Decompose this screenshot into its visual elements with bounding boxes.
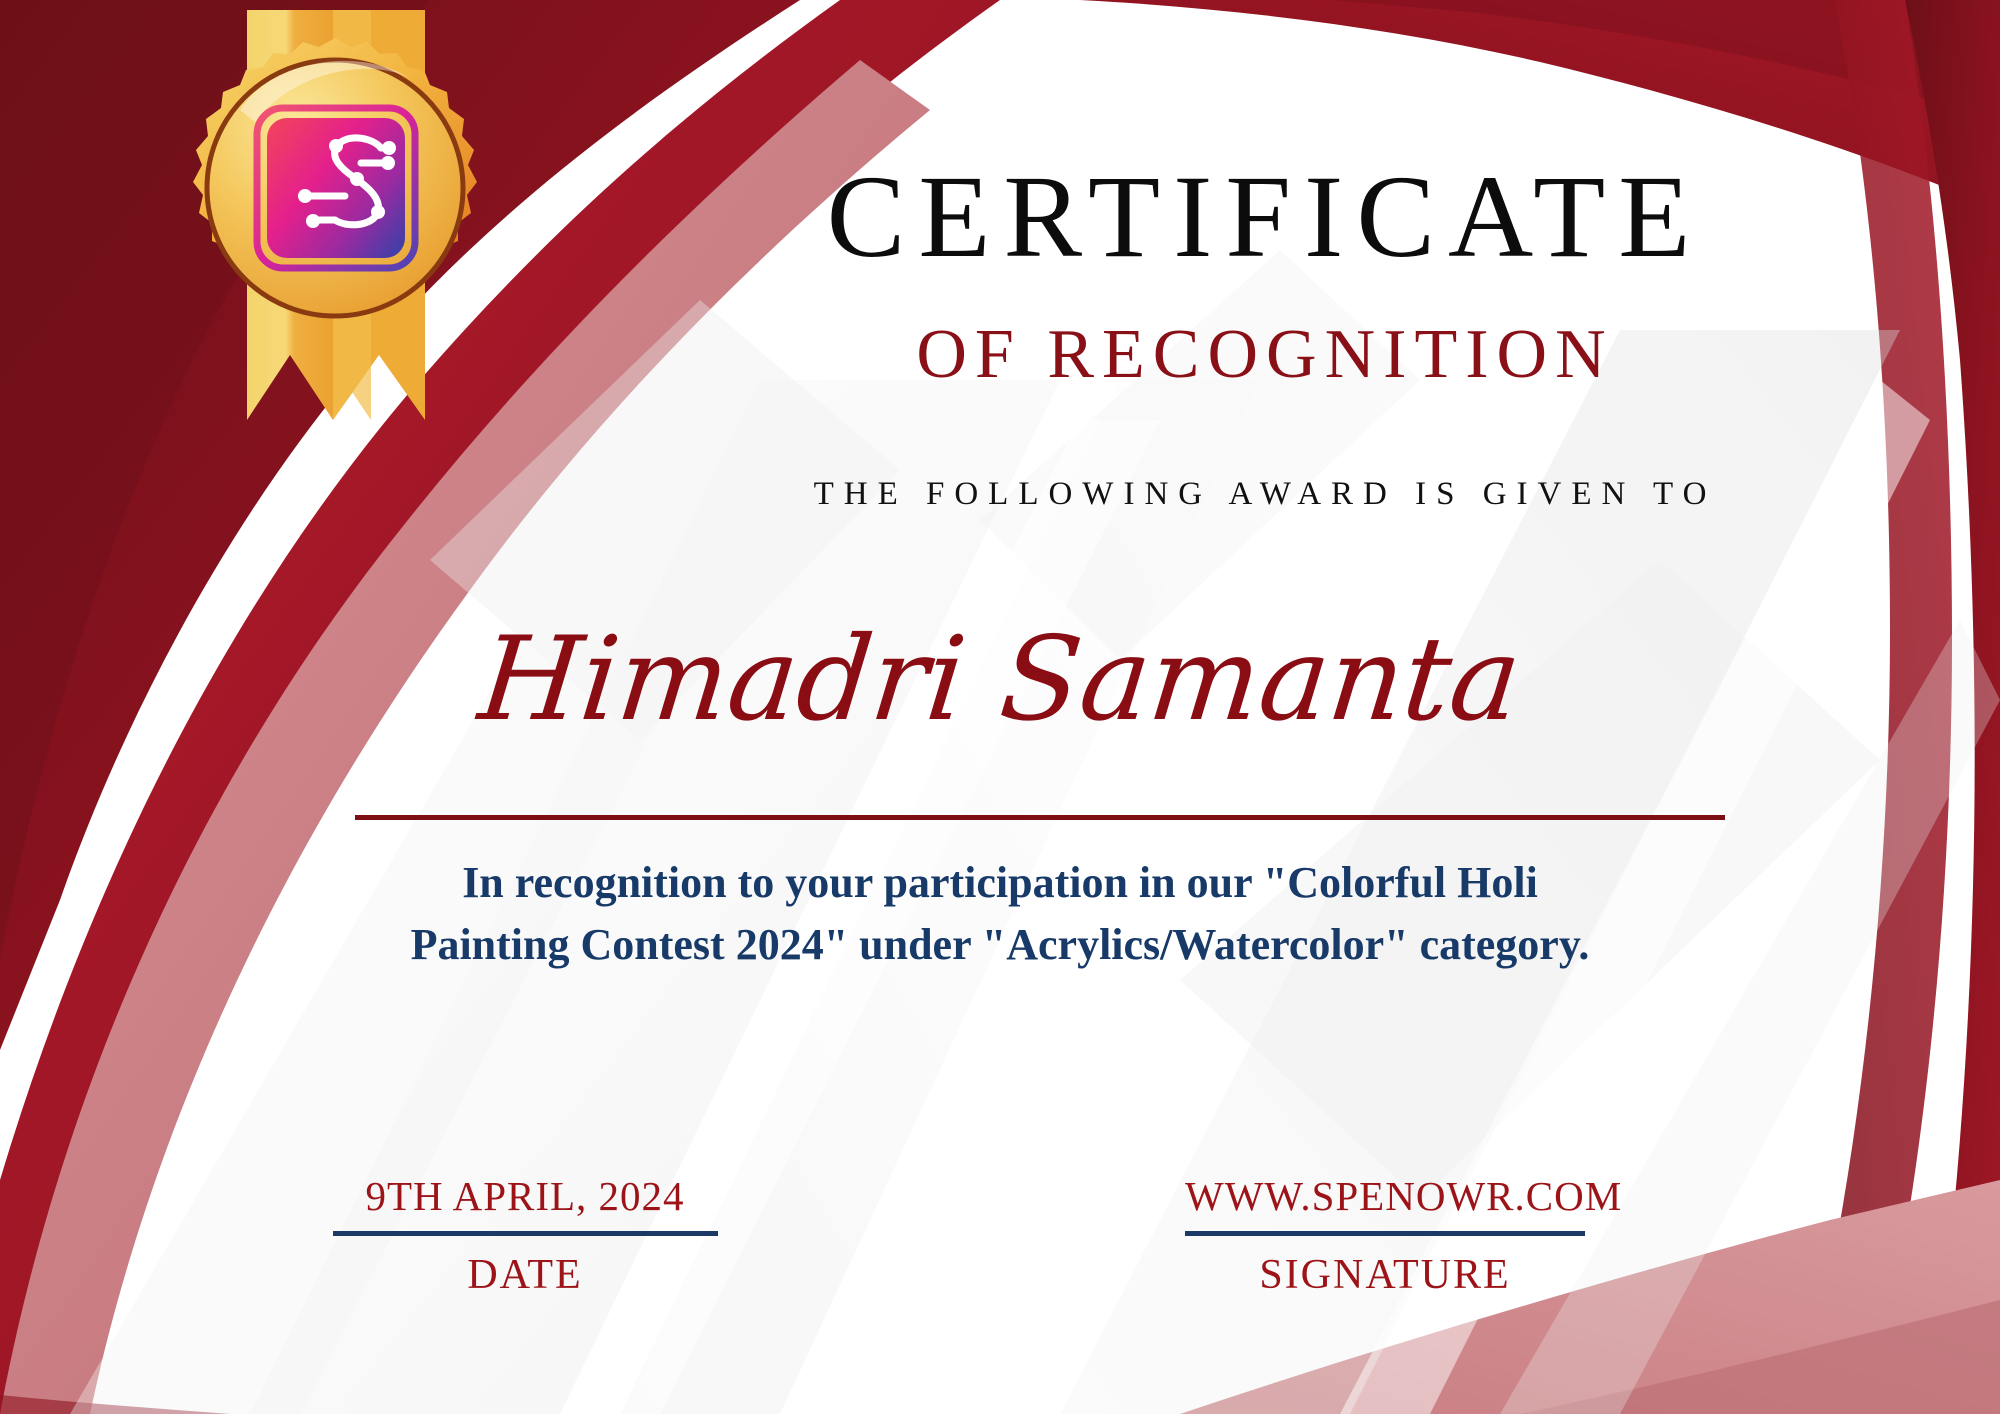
certificate-subtitle: OF RECOGNITION	[640, 320, 1890, 390]
certificate-page: CERTIFICATE OF RECOGNITION THE FOLLOWING…	[0, 0, 2000, 1414]
recognition-body-line-2: Painting Contest 2024" under "Acrylics/W…	[300, 914, 1700, 976]
recognition-body: In recognition to your participation in …	[300, 852, 1700, 977]
award-given-to-line: THE FOLLOWING AWARD IS GIVEN TO	[640, 478, 1890, 511]
date-label: DATE	[325, 1254, 725, 1296]
signature-value: WWW.SPENOWR.COM	[1185, 1176, 1585, 1217]
certificate-title: CERTIFICATE	[640, 158, 1890, 276]
recipient-name: Himadri Samanta	[293, 612, 1707, 749]
date-rule	[333, 1231, 718, 1236]
recognition-body-line-1: In recognition to your participation in …	[300, 852, 1700, 914]
certificate-content: CERTIFICATE OF RECOGNITION THE FOLLOWING…	[0, 0, 2000, 1414]
signature-rule	[1185, 1231, 1585, 1236]
signature-block: WWW.SPENOWR.COM SIGNATURE	[1185, 1176, 1585, 1296]
signature-label: SIGNATURE	[1185, 1254, 1585, 1296]
name-divider-rule	[355, 815, 1725, 820]
date-block: 9TH APRIL, 2024 DATE	[325, 1176, 725, 1296]
date-value: 9TH APRIL, 2024	[325, 1176, 725, 1217]
